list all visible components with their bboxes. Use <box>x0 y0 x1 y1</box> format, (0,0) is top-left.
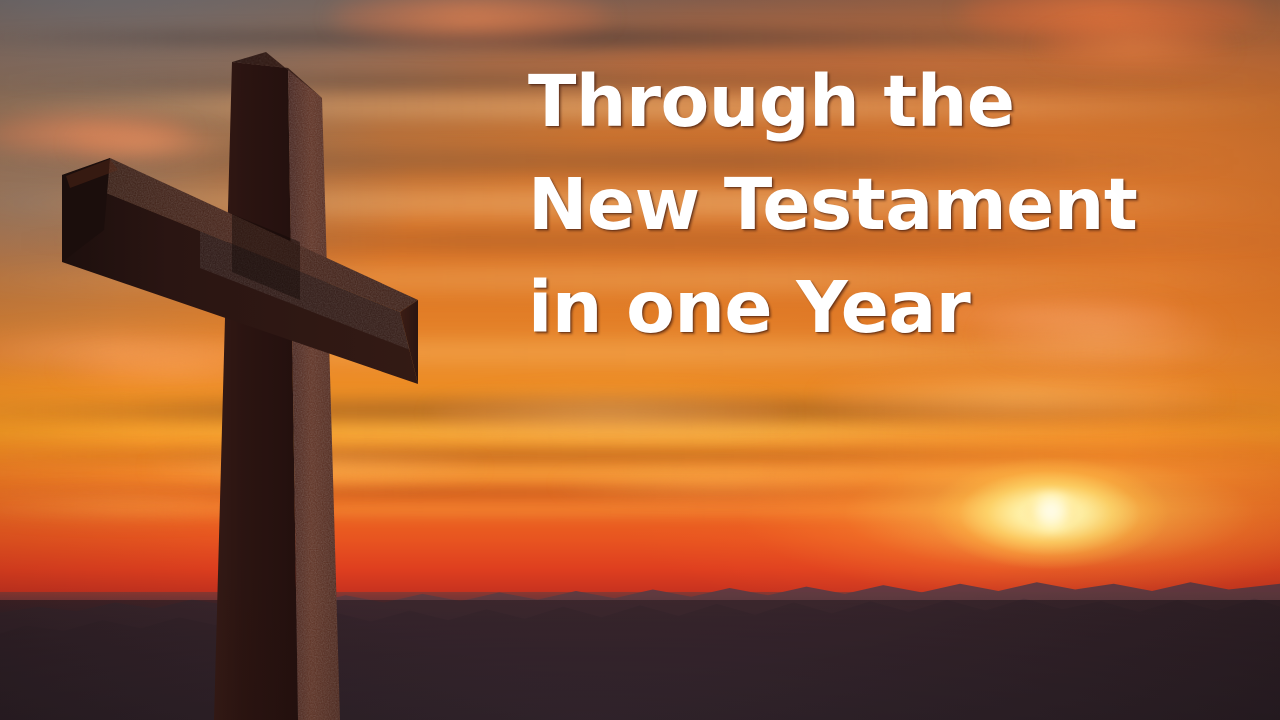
slide-canvas: Through the New Testament in one Year <box>0 0 1280 720</box>
title-line-2: New Testament <box>528 153 1228 256</box>
ground-vignette <box>0 600 1280 720</box>
title-line-3: in one Year <box>528 256 1228 359</box>
title-line-1: Through the <box>528 50 1228 153</box>
sun-disc-icon <box>1024 492 1078 532</box>
slide-title: Through the New Testament in one Year <box>528 50 1228 359</box>
